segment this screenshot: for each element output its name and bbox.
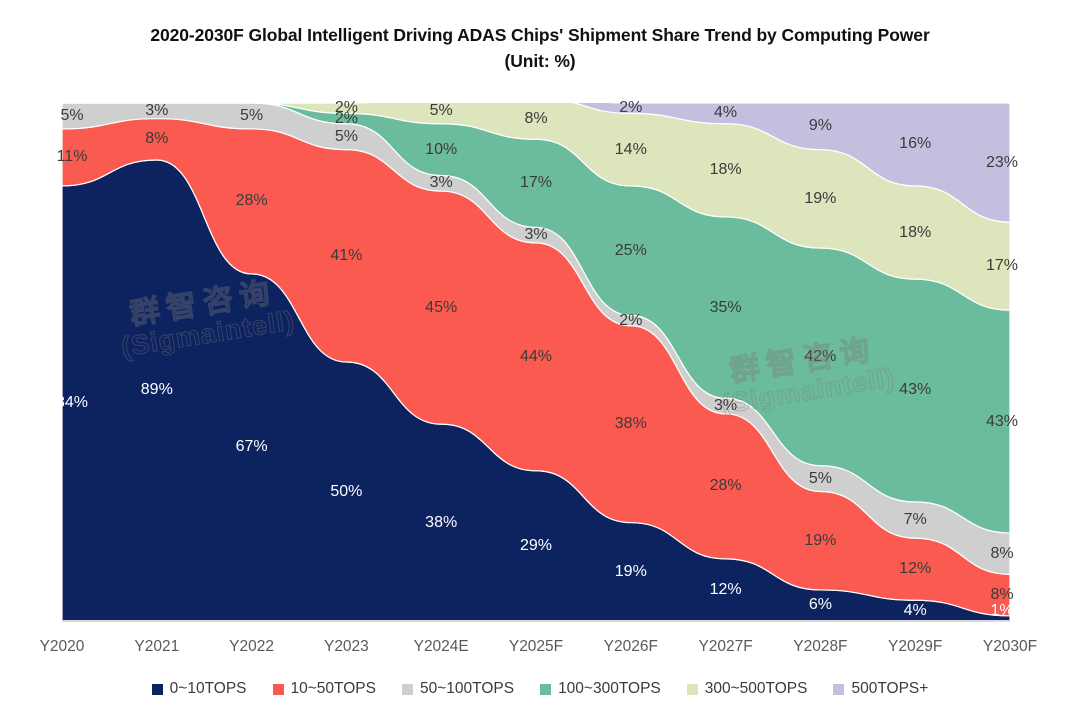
x-axis-tick-y2024e: Y2024E (414, 638, 469, 656)
x-axis-tick-y2028f: Y2028F (793, 638, 847, 656)
legend-item-50-100tops[interactable]: 50~100TOPS (402, 680, 514, 698)
x-axis-tick-y2029f: Y2029F (888, 638, 942, 656)
plot-area (62, 103, 1010, 621)
x-axis-tick-y2030f: Y2030F (983, 638, 1037, 656)
x-axis-tick-y2023: Y2023 (324, 638, 369, 656)
legend-label: 10~50TOPS (291, 680, 376, 698)
legend-swatch (540, 684, 551, 695)
x-axis-tick-y2022: Y2022 (229, 638, 274, 656)
legend-swatch (833, 684, 844, 695)
x-axis-tick-y2021: Y2021 (134, 638, 179, 656)
x-axis-tick-y2026f: Y2026F (604, 638, 658, 656)
legend-item-100-300tops[interactable]: 100~300TOPS (540, 680, 661, 698)
legend-swatch (152, 684, 163, 695)
legend-item-0-10tops[interactable]: 0~10TOPS (152, 680, 247, 698)
legend-label: 300~500TOPS (705, 680, 808, 698)
legend-label: 100~300TOPS (558, 680, 661, 698)
chart-subtitle: (Unit: %) (0, 48, 1080, 74)
x-axis: Y2020Y2021Y2022Y2023Y2024EY2025FY2026FY2… (62, 638, 1010, 664)
legend-item-300-500tops[interactable]: 300~500TOPS (687, 680, 808, 698)
x-axis-tick-y2025f: Y2025F (509, 638, 563, 656)
legend-swatch (687, 684, 698, 695)
stacked-area-svg (62, 103, 1010, 621)
x-axis-tick-y2020: Y2020 (40, 638, 85, 656)
chart-container: 2020-2030F Global Intelligent Driving AD… (0, 0, 1080, 725)
chart-title: 2020-2030F Global Intelligent Driving AD… (0, 22, 1080, 48)
chart-title-block: 2020-2030F Global Intelligent Driving AD… (0, 22, 1080, 74)
legend-swatch (402, 684, 413, 695)
legend-label: 50~100TOPS (420, 680, 514, 698)
legend-label: 500TOPS+ (851, 680, 928, 698)
legend-item-10-50tops[interactable]: 10~50TOPS (273, 680, 376, 698)
axis-baseline (62, 620, 1010, 622)
legend-swatch (273, 684, 284, 695)
x-axis-tick-y2027f: Y2027F (698, 638, 752, 656)
chart-legend: 0~10TOPS10~50TOPS50~100TOPS100~300TOPS30… (0, 680, 1080, 698)
legend-item-500tops-[interactable]: 500TOPS+ (833, 680, 928, 698)
legend-label: 0~10TOPS (170, 680, 247, 698)
